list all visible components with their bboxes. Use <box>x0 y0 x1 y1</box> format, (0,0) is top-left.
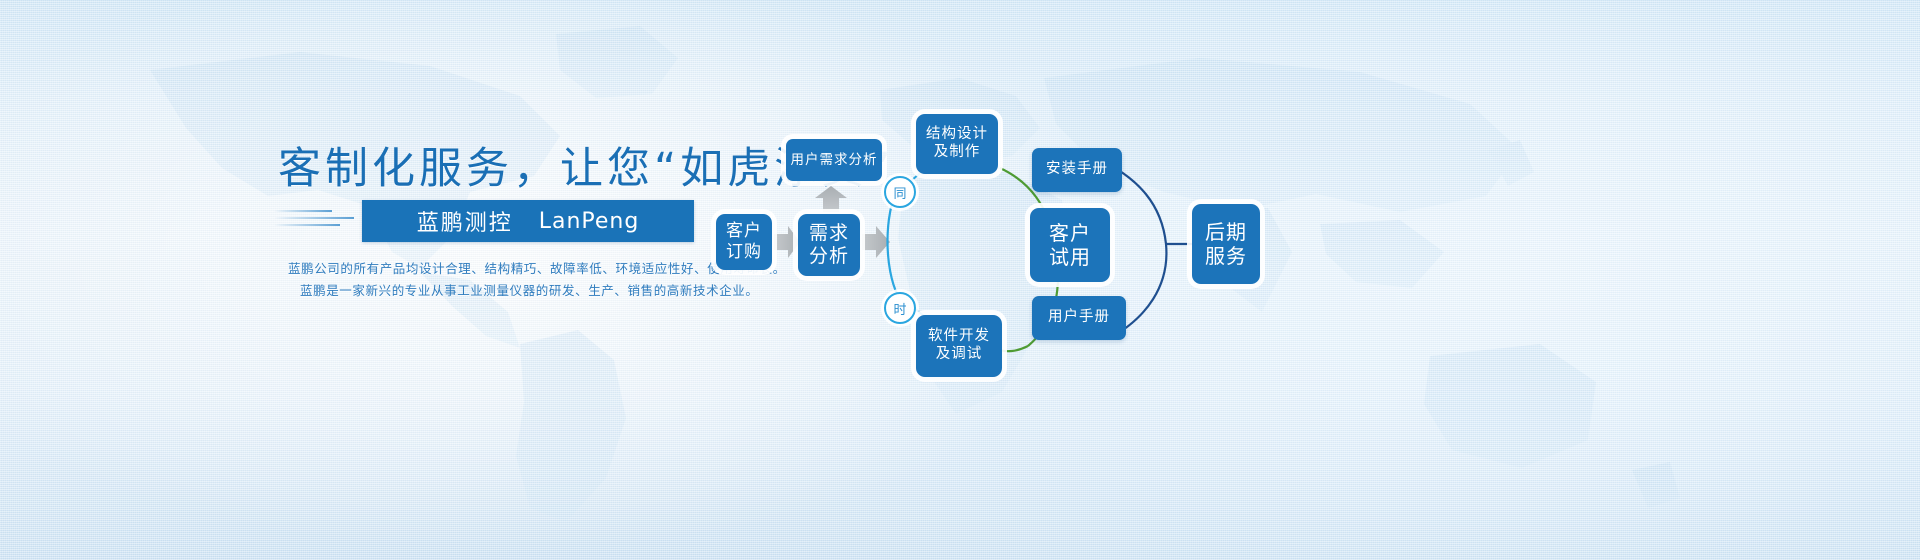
node-label: 需求 分析 <box>809 222 849 268</box>
node-label-line1: 需求 <box>809 222 849 244</box>
node-label-line1: 结构设计 <box>926 126 988 142</box>
arc-usermanual-to-software <box>1000 346 1028 351</box>
node-label-line2: 及调试 <box>936 346 983 362</box>
node-user-manual[interactable]: 用户手册 <box>1032 296 1126 340</box>
node-label: 安装手册 <box>1046 161 1108 179</box>
banner-stage: 客制化服务，让您“如虎添翼” 蓝鹏测控 LanPeng 蓝鹏公司的所有产品均设计… <box>0 0 1920 560</box>
arrow-order-to-demand <box>774 226 800 258</box>
node-label: 客户 试用 <box>1049 221 1091 270</box>
connector-simultaneous-top: 同 <box>884 176 916 208</box>
node-structural-design[interactable]: 结构设计 及制作 <box>916 114 998 174</box>
connector-label: 时 <box>893 299 906 318</box>
node-customer-trial[interactable]: 客户 试用 <box>1030 208 1110 282</box>
node-install-manual[interactable]: 安装手册 <box>1032 148 1122 192</box>
node-user-requirement-analysis[interactable]: 用户需求分析 <box>786 139 882 181</box>
node-label: 后期 服务 <box>1205 220 1247 269</box>
arrow-demand-to-requirement <box>815 186 847 212</box>
node-software-development[interactable]: 软件开发 及调试 <box>916 315 1002 377</box>
node-label: 软件开发 及调试 <box>928 328 990 363</box>
node-label-line2: 及制作 <box>934 144 981 160</box>
node-label-line2: 服务 <box>1205 244 1247 268</box>
connector-label: 同 <box>893 183 906 202</box>
node-label-line1: 客户 <box>726 221 762 241</box>
node-label-line1: 后期 <box>1205 220 1247 244</box>
node-after-service[interactable]: 后期 服务 <box>1192 204 1260 284</box>
process-flow-diagram <box>0 0 1920 560</box>
node-label: 客户 订购 <box>726 221 762 262</box>
connector-simultaneous-bottom: 时 <box>884 292 916 324</box>
node-label-line1: 客户 <box>1049 221 1091 245</box>
node-demand-analysis[interactable]: 需求 分析 <box>798 214 860 276</box>
node-label: 用户需求分析 <box>791 152 878 168</box>
node-label-line2: 试用 <box>1049 245 1091 269</box>
node-label: 用户手册 <box>1048 309 1110 327</box>
node-label: 结构设计 及制作 <box>926 126 988 161</box>
node-customer-order[interactable]: 客户 订购 <box>716 214 772 270</box>
arrow-demand-to-branch <box>862 226 890 258</box>
node-label-line2: 订购 <box>726 242 762 262</box>
node-label-line2: 分析 <box>809 245 849 267</box>
node-label-line1: 软件开发 <box>928 328 990 344</box>
